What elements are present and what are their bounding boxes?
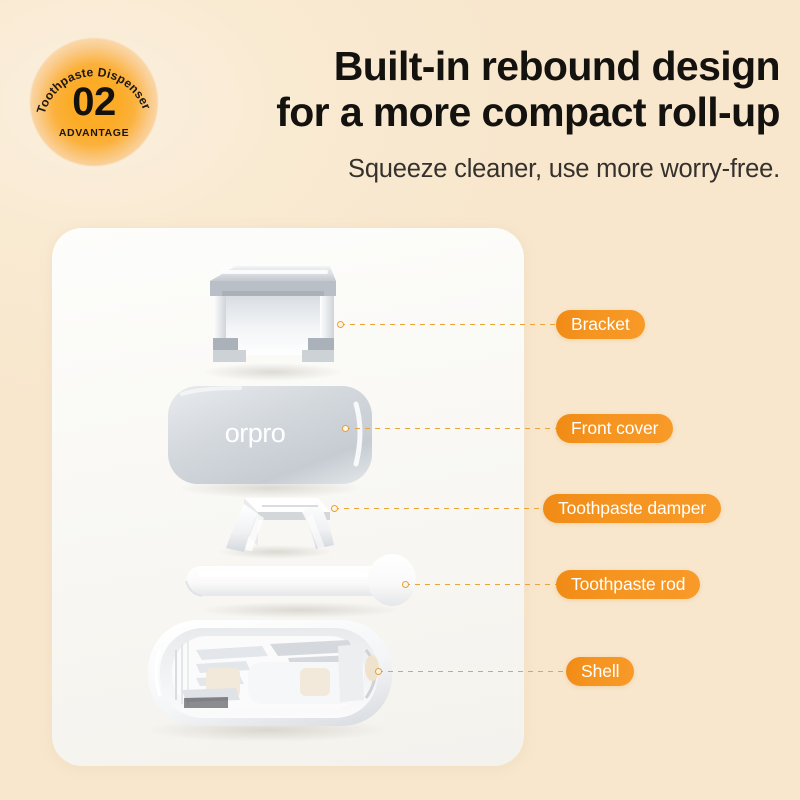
callout-label-toothpaste-damper[interactable]: Toothpaste damper — [543, 494, 721, 523]
part-bracket — [202, 266, 342, 381]
callout-anchor-dot — [331, 505, 338, 512]
brand-logo-text: orpro — [225, 418, 286, 448]
exploded-product-diagram: orpro — [0, 0, 800, 800]
callout-label-front-cover[interactable]: Front cover — [556, 414, 673, 443]
part-toothpaste-damper — [218, 498, 334, 559]
callout-label-shell[interactable]: Shell — [566, 657, 634, 686]
callout-anchor-dot — [337, 321, 344, 328]
part-front-cover: orpro — [168, 386, 372, 498]
callout-leader-line — [378, 671, 566, 672]
callout-anchor-dot — [342, 425, 349, 432]
callout-anchor-dot — [375, 668, 382, 675]
part-shell — [148, 620, 392, 742]
callout-leader-line — [340, 324, 556, 325]
callout-leader-line — [334, 508, 543, 509]
callout-leader-line — [405, 584, 556, 585]
infographic-page: Toothpaste Dispenser 02 ADVANTAGE Built-… — [0, 0, 800, 800]
callout-anchor-dot — [402, 581, 409, 588]
callout-leader-line — [345, 428, 556, 429]
part-toothpaste-rod — [186, 554, 416, 618]
callout-label-bracket[interactable]: Bracket — [556, 310, 645, 339]
callout-label-toothpaste-rod[interactable]: Toothpaste rod — [556, 570, 700, 599]
